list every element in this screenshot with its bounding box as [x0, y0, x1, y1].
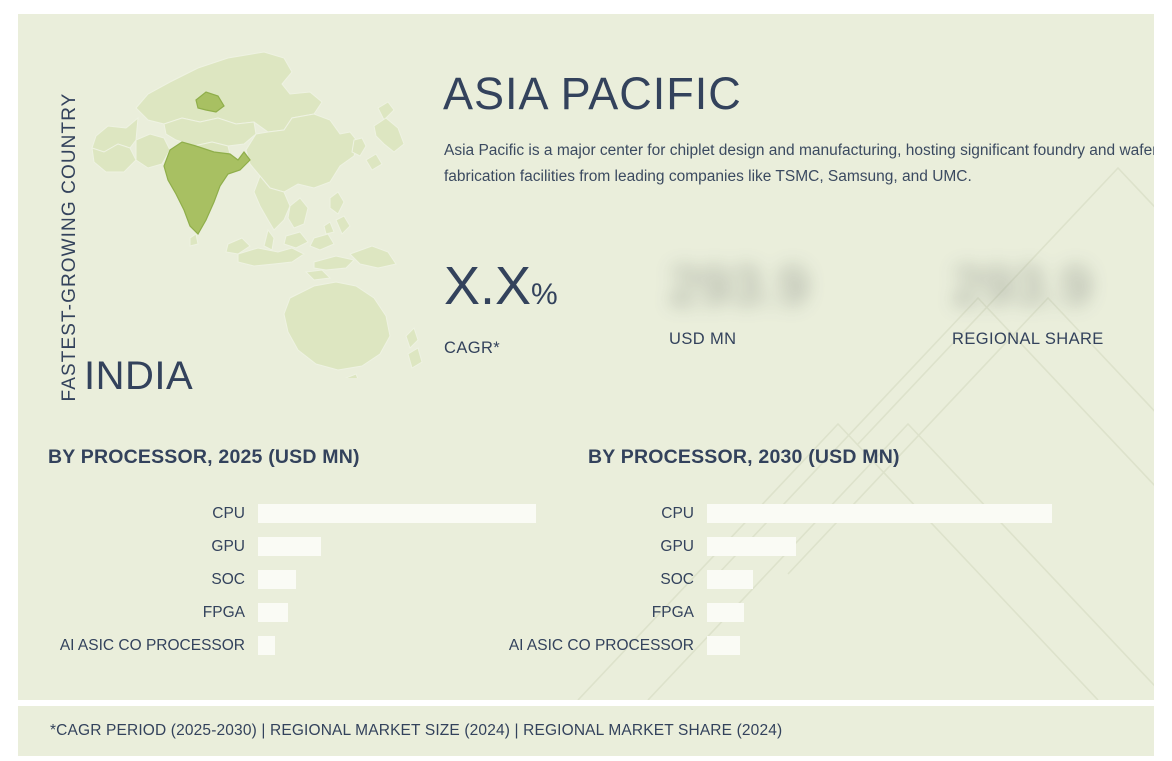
bar-label-cpu-2025: CPU: [212, 505, 245, 523]
table-row: AI ASIC CO PROCESSOR: [707, 636, 1067, 669]
map-base-regions: [92, 52, 422, 378]
table-row: FPGA: [707, 603, 1067, 636]
table-row: SOC: [258, 570, 558, 603]
kpi-cagr-number: X.X: [444, 256, 531, 316]
table-row: CPU: [258, 504, 558, 537]
footer-note: *CAGR PERIOD (2025-2030) | REGIONAL MARK…: [50, 722, 782, 740]
bar-soc-2025: [258, 570, 296, 589]
table-row: GPU: [707, 537, 1067, 570]
table-row: GPU: [258, 537, 558, 570]
kpi-market-size-label: USD MN: [669, 330, 809, 349]
country-name: INDIA: [84, 354, 193, 399]
bar-chart-2030: CPU GPU SOC FPGA AI ASIC CO PROCESSOR: [707, 504, 1067, 669]
bar-ai-asic-2030: [707, 636, 740, 655]
bar-label-gpu-2030: GPU: [660, 538, 694, 556]
bar-soc-2030: [707, 570, 753, 589]
kpi-cagr-value: X.X%: [444, 254, 558, 327]
table-row: SOC: [707, 570, 1067, 603]
percent-symbol: %: [531, 278, 558, 311]
kpi-regional-share: 293.9 REGIONAL SHARE: [952, 254, 1104, 366]
footer-band: *CAGR PERIOD (2025-2030) | REGIONAL MARK…: [18, 706, 1154, 756]
region-title: ASIA PACIFIC: [443, 68, 742, 120]
bar-label-cpu-2030: CPU: [661, 505, 694, 523]
main-panel: FASTEST-GROWING COUNTRY: [18, 14, 1154, 700]
bar-label-ai-asic-2025: AI ASIC CO PROCESSOR: [60, 637, 245, 655]
asia-pacific-map: [78, 48, 428, 378]
map-svg: [78, 48, 428, 378]
bar-label-fpga-2025: FPGA: [203, 604, 245, 622]
kpi-market-size: 293.9 USD MN: [669, 254, 809, 366]
bar-ai-asic-2025: [258, 636, 275, 655]
bar-cpu-2025: [258, 504, 536, 523]
kpi-market-size-value: 293.9: [669, 254, 809, 318]
bar-cpu-2030: [707, 504, 1052, 523]
kpi-regional-share-value: 293.9: [952, 254, 1104, 318]
table-row: FPGA: [258, 603, 558, 636]
kpi-cagr: X.X% CAGR*: [444, 254, 558, 366]
bar-fpga-2030: [707, 603, 744, 622]
kpi-regional-share-label: REGIONAL SHARE: [952, 330, 1104, 349]
bar-gpu-2025: [258, 537, 321, 556]
chart-title-2030: BY PROCESSOR, 2030 (USD MN): [588, 446, 900, 469]
bar-label-fpga-2030: FPGA: [652, 604, 694, 622]
bar-label-soc-2030: SOC: [660, 571, 694, 589]
bar-fpga-2025: [258, 603, 288, 622]
table-row: CPU: [707, 504, 1067, 537]
infographic-root: FASTEST-GROWING COUNTRY: [0, 0, 1172, 761]
bar-label-soc-2025: SOC: [211, 571, 245, 589]
bar-gpu-2030: [707, 537, 796, 556]
bar-label-ai-asic-2030: AI ASIC CO PROCESSOR: [509, 637, 694, 655]
chart-title-2025: BY PROCESSOR, 2025 (USD MN): [48, 446, 360, 469]
kpi-row: X.X% CAGR* 293.9 USD MN 293.9 REGIONAL S…: [444, 254, 1154, 366]
region-description: Asia Pacific is a major center for chipl…: [444, 138, 1154, 190]
bar-label-gpu-2025: GPU: [211, 538, 245, 556]
kpi-cagr-label: CAGR*: [444, 339, 558, 358]
